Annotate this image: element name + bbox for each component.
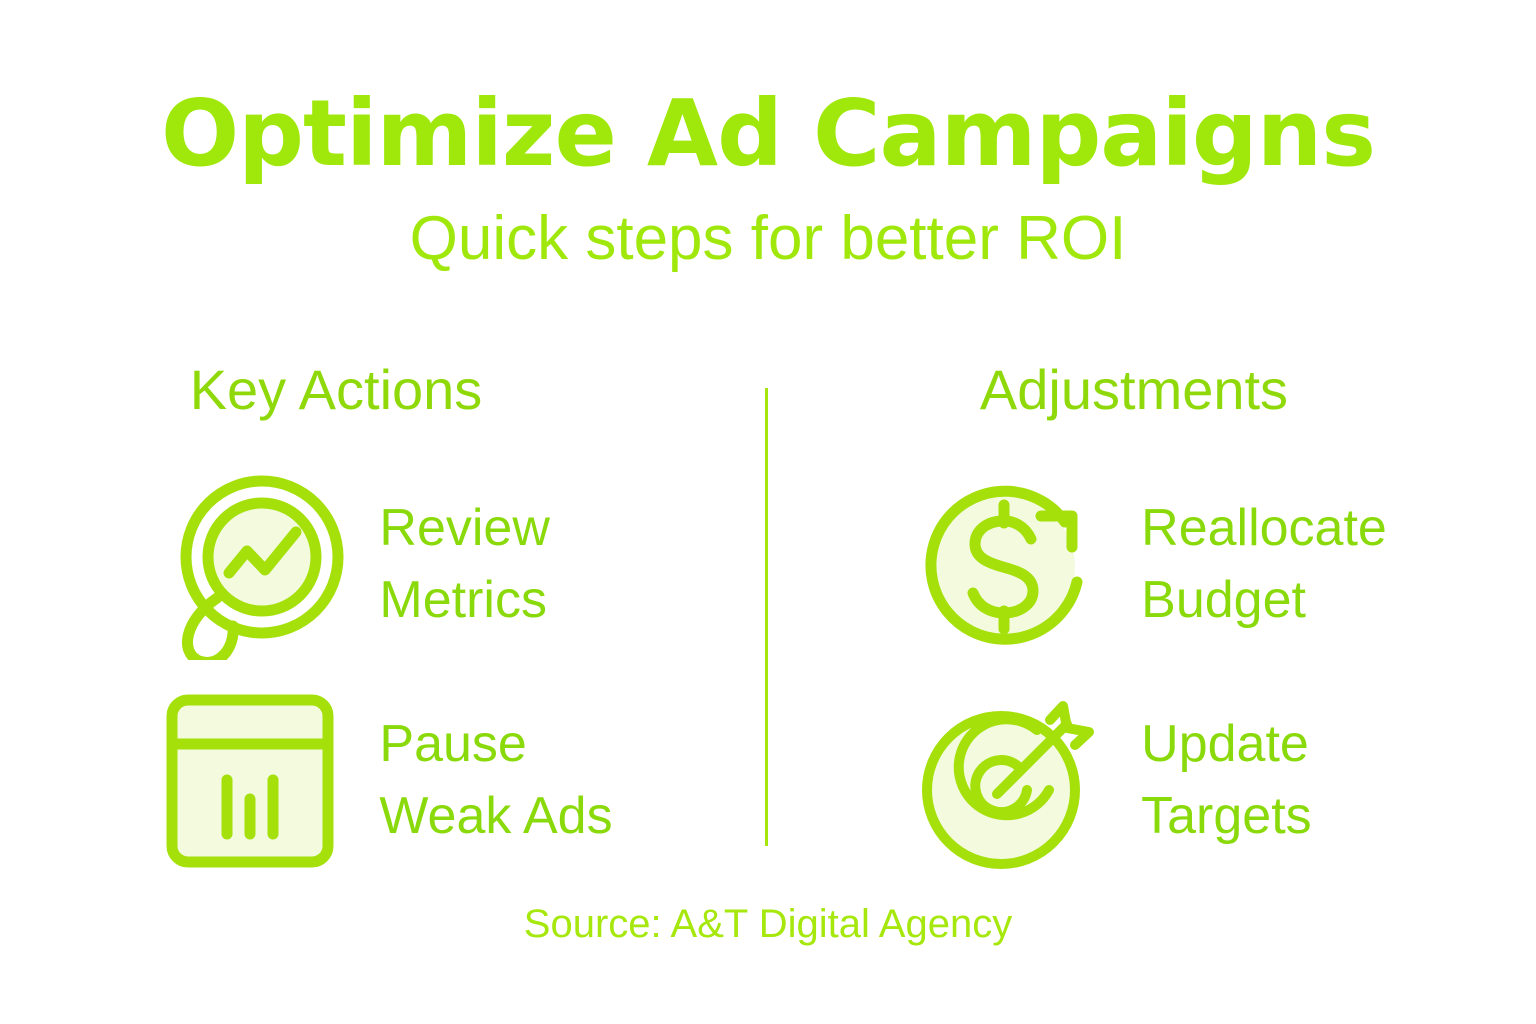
target-arrow-icon [917, 686, 1107, 876]
list-item-review-metrics[interactable]: Review Metrics [155, 470, 612, 660]
dollar-refresh-icon [917, 470, 1107, 660]
list-item-pause-weak-ads[interactable]: Pause Weak Ads [155, 686, 612, 876]
list-item-update-targets[interactable]: Update Targets [917, 686, 1387, 876]
ad-panel-bars-icon [155, 686, 345, 876]
page-subtitle: Quick steps for better ROI [0, 208, 1536, 270]
page-title: Optimize Ad Campaigns [0, 88, 1536, 180]
columns-container: Key Actions [0, 362, 1536, 862]
infographic-poster: Optimize Ad Campaigns Quick steps for be… [0, 0, 1536, 1024]
column-adjustments: Adjustments [768, 362, 1536, 876]
key-actions-list: Review Metrics Pause Weak Ads [155, 470, 612, 876]
list-item-label: Pause Weak Ads [379, 709, 612, 853]
list-item-label: Review Metrics [379, 493, 550, 637]
list-item-label: Update Targets [1141, 709, 1312, 853]
adjustments-list: Reallocate Budget [917, 470, 1387, 876]
list-item-reallocate-budget[interactable]: Reallocate Budget [917, 470, 1387, 660]
column-key-actions: Key Actions [0, 362, 768, 876]
source-credit: Source: A&T Digital Agency [0, 902, 1536, 947]
column-heading-adjustments: Adjustments [980, 362, 1288, 418]
list-item-label: Reallocate Budget [1141, 493, 1387, 637]
column-heading-key-actions: Key Actions [190, 362, 483, 418]
header: Optimize Ad Campaigns Quick steps for be… [0, 88, 1536, 270]
magnifier-trend-icon [155, 470, 345, 660]
